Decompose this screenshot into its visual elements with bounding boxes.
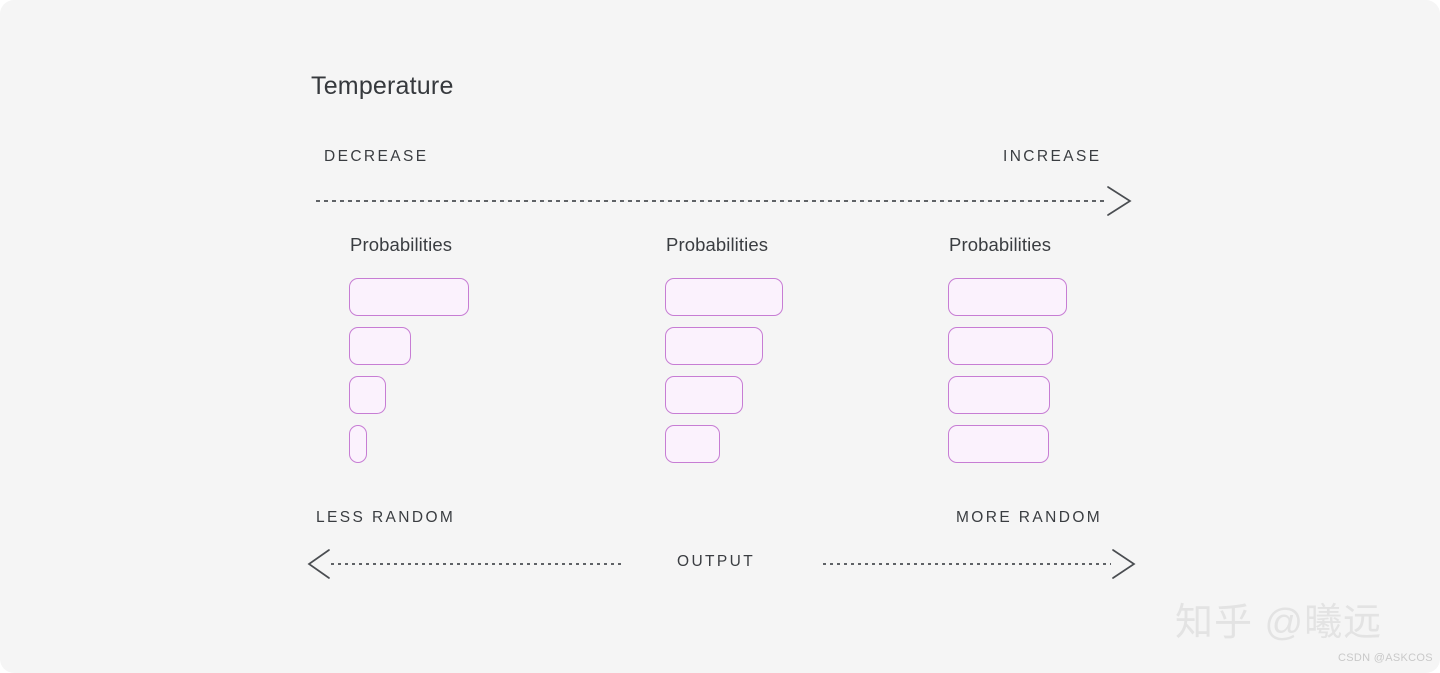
prob-bar: [665, 376, 743, 414]
diagram-canvas: Temperature DECREASE INCREASE Probabilit…: [0, 0, 1440, 673]
axis-label-increase: INCREASE: [1003, 148, 1101, 166]
prob-bar: [349, 376, 386, 414]
column-heading-high: Probabilities: [949, 234, 1067, 256]
prob-bar: [665, 425, 720, 463]
probabilities-column-high: Probabilities: [948, 234, 1067, 463]
bar-stack-high: [948, 278, 1067, 463]
column-heading-mid: Probabilities: [666, 234, 783, 256]
page-title: Temperature: [311, 72, 454, 101]
prob-bar: [948, 327, 1053, 365]
temperature-axis-arrow-right-icon: [310, 182, 1135, 220]
bar-stack-low: [349, 278, 469, 463]
output-axis-arrow-right-icon: [818, 545, 1138, 583]
prob-bar: [948, 278, 1067, 316]
bar-stack-mid: [665, 278, 783, 463]
prob-bar: [665, 327, 763, 365]
probabilities-column-low: Probabilities: [349, 234, 469, 463]
prob-bar: [948, 425, 1049, 463]
probabilities-column-mid: Probabilities: [665, 234, 783, 463]
output-axis-arrow-left-icon: [306, 545, 626, 583]
axis-label-output: OUTPUT: [677, 553, 755, 571]
column-heading-low: Probabilities: [350, 234, 469, 256]
axis-label-decrease: DECREASE: [324, 148, 428, 166]
watermark-csdn: CSDN @ASKCOS: [1338, 652, 1433, 664]
axis-label-more-random: MORE RANDOM: [956, 509, 1102, 527]
prob-bar: [349, 425, 367, 463]
axis-label-less-random: LESS RANDOM: [316, 509, 455, 527]
watermark-zhihu: 知乎 @曦远: [1175, 591, 1382, 646]
prob-bar: [349, 327, 411, 365]
prob-bar: [349, 278, 469, 316]
prob-bar: [665, 278, 783, 316]
prob-bar: [948, 376, 1050, 414]
